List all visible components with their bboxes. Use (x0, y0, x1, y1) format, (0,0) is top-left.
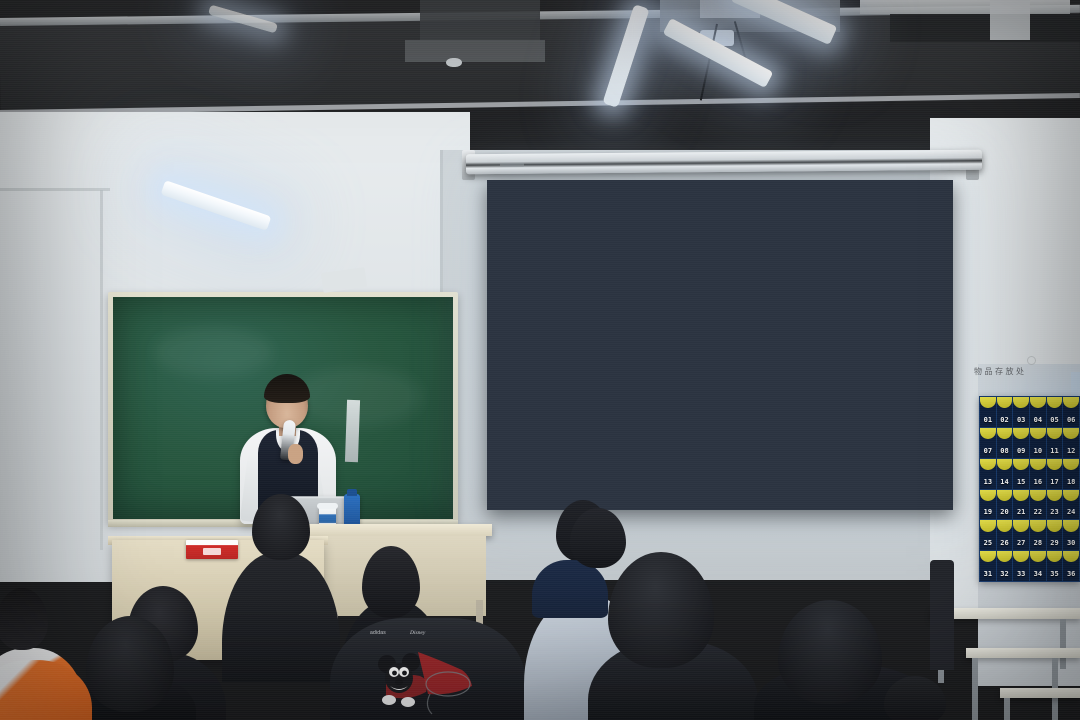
coffee-cup-lid (317, 503, 338, 509)
pocket-flap (1030, 428, 1046, 439)
pocket-number: 23 (1050, 509, 1058, 519)
pocket-number: 02 (1000, 417, 1008, 427)
ceiling-panel-left-lower (405, 40, 545, 62)
storage-pocket: 21 (1013, 490, 1029, 520)
pocket-number: 03 (1017, 417, 1025, 427)
disney-logo-text: Disney (410, 630, 425, 636)
pocket-number: 12 (1067, 448, 1075, 458)
pocket-number: 18 (1067, 479, 1075, 489)
classroom-desk-top-mid (966, 648, 1080, 658)
ceiling-bracket-right (990, 0, 1030, 40)
pocket-number: 05 (1050, 417, 1058, 427)
storage-pocket: 20 (997, 490, 1013, 520)
pocket-number: 06 (1067, 417, 1075, 427)
pocket-chart-hook (1027, 356, 1036, 365)
pocket-flap (1013, 551, 1029, 562)
speaker-hand (288, 444, 303, 464)
storage-pocket: 31 (980, 551, 996, 581)
pocket-number: 01 (984, 417, 992, 427)
pocket-number: 32 (1000, 571, 1008, 581)
mickey-mouse-graphic (356, 638, 486, 716)
pocket-flap (1030, 490, 1046, 501)
pocket-number: 21 (1017, 509, 1025, 519)
pocket-flap (1030, 459, 1046, 470)
storage-pocket: 03 (1013, 397, 1029, 427)
pocket-flap (1047, 490, 1063, 501)
storage-pocket: 24 (1063, 490, 1079, 520)
storage-pocket: 26 (997, 520, 1013, 550)
audience-head (0, 588, 48, 650)
bottle-cap (347, 489, 357, 496)
pocket-number: 13 (984, 479, 992, 489)
phone-storage-pocket-chart: 0102030405060708091011121314151617181920… (979, 396, 1080, 582)
storage-pocket: 14 (997, 459, 1013, 489)
pocket-flap (997, 459, 1013, 470)
adidas-logo-text: adidas (370, 630, 386, 636)
storage-pocket: 30 (1063, 520, 1079, 550)
desk-leg (972, 658, 978, 720)
pocket-number: 15 (1017, 479, 1025, 489)
storage-pocket: 09 (1013, 428, 1029, 458)
storage-pocket: 06 (1063, 397, 1079, 427)
pocket-flap (1013, 459, 1029, 470)
ceiling-recess-right (890, 14, 1080, 42)
pocket-flap (1063, 459, 1079, 470)
storage-pocket: 16 (1030, 459, 1046, 489)
pocket-flap (997, 520, 1013, 531)
pocket-flap (1047, 520, 1063, 531)
storage-pocket: 07 (980, 428, 996, 458)
pocket-number: 27 (1017, 540, 1025, 550)
storage-pocket: 27 (1013, 520, 1029, 550)
pocket-number: 26 (1000, 540, 1008, 550)
pocket-chart-label: 物品存放处 (974, 366, 1027, 377)
storage-pocket: 05 (1047, 397, 1063, 427)
pocket-number: 16 (1034, 479, 1042, 489)
pocket-number: 07 (984, 448, 992, 458)
classroom-desk-top-front (1000, 688, 1080, 698)
pocket-number: 19 (984, 509, 992, 519)
pocket-flap (1063, 520, 1079, 531)
pocket-number: 33 (1017, 571, 1025, 581)
pocket-flap (1063, 428, 1079, 439)
pocket-flap (1047, 428, 1063, 439)
pocket-number: 10 (1034, 448, 1042, 458)
pocket-flap (1047, 397, 1063, 408)
pocket-number: 04 (1034, 417, 1042, 427)
desk-leg (1060, 619, 1066, 669)
desk-leg (1004, 698, 1010, 720)
pocket-flap (997, 428, 1013, 439)
pocket-flap (1013, 490, 1029, 501)
storage-pocket: 18 (1063, 459, 1079, 489)
pocket-number: 20 (1000, 509, 1008, 519)
audience-head (778, 600, 882, 704)
pocket-flap (980, 520, 996, 531)
storage-pocket: 33 (1013, 551, 1029, 581)
wall-seam-vertical-left (100, 190, 103, 550)
jacket-brand-row: adidas Disney (370, 630, 408, 636)
storage-pocket: 15 (1013, 459, 1029, 489)
audience-shoulder-dark (532, 560, 608, 618)
pocket-number: 29 (1050, 540, 1058, 550)
pocket-flap (1063, 397, 1079, 408)
wall-seam-horizontal (0, 188, 110, 191)
pocket-flap (1030, 397, 1046, 408)
storage-pocket: 29 (1047, 520, 1063, 550)
storage-pocket: 10 (1030, 428, 1046, 458)
pocket-number: 24 (1067, 509, 1075, 519)
pocket-number: 11 (1050, 448, 1058, 458)
storage-pocket: 12 (1063, 428, 1079, 458)
storage-pocket: 36 (1063, 551, 1079, 581)
storage-pocket: 35 (1047, 551, 1063, 581)
pocket-flap (1030, 551, 1046, 562)
ceiling-rail-right (860, 0, 1070, 14)
audience-torso (0, 660, 92, 720)
storage-pocket: 23 (1047, 490, 1063, 520)
pocket-number: 25 (984, 540, 992, 550)
pocket-flap (1047, 459, 1063, 470)
pocket-flap (1063, 551, 1079, 562)
classroom-photo: 游戏产业发展与高校深度校企合作实践 郭兵 教授 物品存放处 0102030405… (0, 0, 1080, 720)
storage-pocket: 11 (1047, 428, 1063, 458)
pocket-flap (1030, 520, 1046, 531)
storage-pocket: 22 (1030, 490, 1046, 520)
storage-pocket: 17 (1047, 459, 1063, 489)
storage-pocket: 28 (1030, 520, 1046, 550)
pocket-number: 22 (1034, 509, 1042, 519)
pocket-flap (980, 428, 996, 439)
pocket-flap (980, 459, 996, 470)
pocket-flap (997, 551, 1013, 562)
storage-pocket: 34 (1030, 551, 1046, 581)
pocket-number: 28 (1034, 540, 1042, 550)
pocket-flap (1013, 397, 1029, 408)
pocket-number: 35 (1050, 571, 1058, 581)
screen-brand-label (500, 163, 524, 167)
storage-pocket: 25 (980, 520, 996, 550)
projection-screen-border: 游戏产业发展与高校深度校企合作实践 郭兵 教授 (487, 180, 953, 510)
pocket-flap (997, 397, 1013, 408)
ceiling-panel-left (420, 0, 540, 40)
smoke-detector-icon (446, 58, 462, 67)
audience-head (884, 676, 946, 720)
pocket-number: 36 (1067, 571, 1075, 581)
chalk-smudge (153, 327, 273, 377)
pocket-flap (980, 551, 996, 562)
storage-pocket: 04 (1030, 397, 1046, 427)
pocket-number: 08 (1000, 448, 1008, 458)
pocket-flap (1063, 490, 1079, 501)
pocket-number: 30 (1067, 540, 1075, 550)
pocket-flap (1013, 428, 1029, 439)
pocket-flap (980, 490, 996, 501)
hanging-coat (930, 560, 954, 670)
pocket-number: 14 (1000, 479, 1008, 489)
pocket-number: 34 (1034, 571, 1042, 581)
pocket-flap (1047, 551, 1063, 562)
pocket-flap (1013, 520, 1029, 531)
pocket-number: 31 (984, 571, 992, 581)
pocket-number: 17 (1050, 479, 1058, 489)
blackboard-eraser (345, 400, 360, 462)
storage-pocket: 19 (980, 490, 996, 520)
pocket-flap (980, 397, 996, 408)
storage-pocket: 01 (980, 397, 996, 427)
podium-sign-text-block (203, 548, 221, 555)
storage-pocket: 32 (997, 551, 1013, 581)
storage-pocket: 02 (997, 397, 1013, 427)
pocket-flap (997, 490, 1013, 501)
storage-pocket: 08 (997, 428, 1013, 458)
audience-head (570, 508, 626, 568)
podium-warning-sign (186, 540, 238, 559)
storage-pocket: 13 (980, 459, 996, 489)
pocket-number: 09 (1017, 448, 1025, 458)
